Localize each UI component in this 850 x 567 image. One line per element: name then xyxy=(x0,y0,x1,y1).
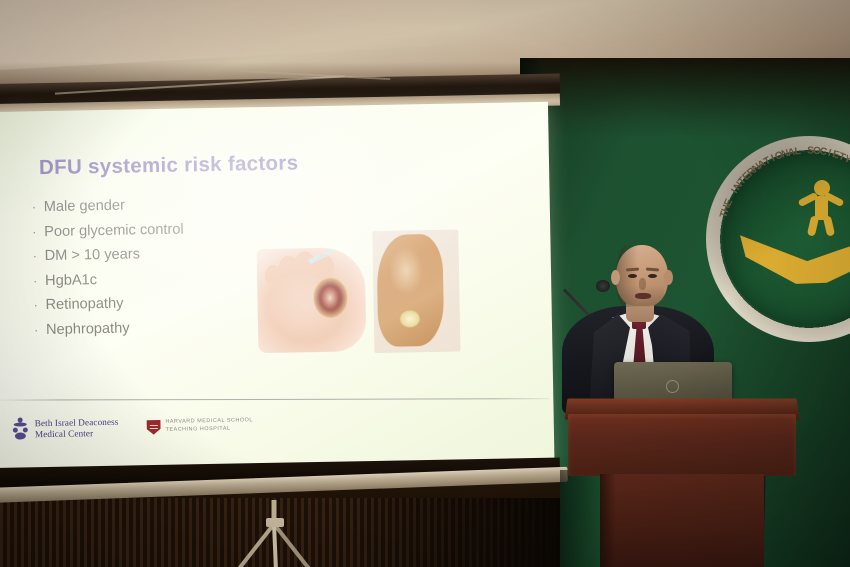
harvard-line2: TEACHING HOSPITAL xyxy=(166,425,254,434)
mouth xyxy=(635,293,651,299)
bullet-marker-icon: · xyxy=(32,225,44,238)
harvard-shield-icon xyxy=(146,419,160,434)
slide-title: DFU systemic risk factors xyxy=(39,151,299,180)
seal-ring-text: THE INTERNATIONAL SOCIETY OF REGENERA xyxy=(706,136,850,342)
harvard-logo-text: HARVARD MEDICAL SCHOOL TEACHING HOSPITAL xyxy=(165,417,253,434)
bidmc-line1: Beth Israel Deaconess xyxy=(35,417,119,430)
laptop-logo-icon xyxy=(666,380,679,393)
slide-bullet-list: ·Male gender·Poor glycemic control·DM > … xyxy=(32,197,186,347)
bidmc-logo: Beth Israel Deaconess Medical Center xyxy=(12,416,119,442)
seal-text-char: L xyxy=(794,146,802,158)
harvard-logo: HARVARD MEDICAL SCHOOL TEACHING HOSPITAL xyxy=(146,417,253,435)
conference-photo-scene: THE INTERNATIONAL SOCIETY OF REGENERA DF… xyxy=(0,0,850,567)
slide-bullet-item: ·Retinopathy xyxy=(33,294,185,313)
eye-left xyxy=(628,274,637,278)
bidmc-logo-text: Beth Israel Deaconess Medical Center xyxy=(35,417,119,441)
foot-ulcer-photo-right xyxy=(372,229,460,353)
ear-left xyxy=(611,270,620,285)
society-seal-logo: THE INTERNATIONAL SOCIETY OF REGENERA xyxy=(706,136,850,342)
ear-right xyxy=(664,270,673,285)
bullet-marker-icon: · xyxy=(33,298,45,311)
slide-bullet-label: Poor glycemic control xyxy=(44,221,184,240)
bullet-marker-icon: · xyxy=(34,323,46,336)
projection-screen: DFU systemic risk factors ·Male gender·P… xyxy=(0,102,555,477)
foot-ulcer-photo-left xyxy=(257,247,367,353)
slide-bullet-item: ·DM > 10 years xyxy=(33,246,185,265)
bullet-marker-icon: · xyxy=(33,274,45,287)
podium-front-face: 中國科技會堂 CHINA HALL OF SCIENCE AND TECHNOL… xyxy=(568,414,796,476)
bullet-marker-icon: · xyxy=(32,200,44,213)
slide-bullet-label: HgbA1c xyxy=(45,272,97,289)
bidmc-line2: Medical Center xyxy=(35,428,119,441)
slide-bullet-label: DM > 10 years xyxy=(45,246,141,264)
slide-bullet-item: ·Male gender xyxy=(32,197,184,216)
bidmc-mark-icon xyxy=(12,417,29,441)
tripod-stand xyxy=(218,500,338,567)
slide-bullet-label: Male gender xyxy=(44,198,125,215)
slide-bullet-item: ·Nephropathy xyxy=(34,319,186,338)
microphone-capsule-icon xyxy=(596,280,610,292)
eye-right xyxy=(648,274,657,278)
bullet-marker-icon: · xyxy=(33,249,45,262)
podium-base xyxy=(600,474,764,567)
slide-bullet-item: ·Poor glycemic control xyxy=(32,221,184,240)
slide-bullet-item: ·HgbA1c xyxy=(33,270,185,289)
podium-base-shadow xyxy=(600,474,616,567)
slide-footer-divider xyxy=(0,398,549,400)
ribbed-panel-shadow xyxy=(330,498,560,567)
clinical-photos-group xyxy=(252,221,474,355)
slide-bullet-label: Nephropathy xyxy=(46,320,130,338)
backdrop-top-shadow xyxy=(520,58,850,138)
slide-bullet-label: Retinopathy xyxy=(45,296,123,313)
slide-footer-logos: Beth Israel Deaconess Medical Center HAR… xyxy=(12,413,254,441)
